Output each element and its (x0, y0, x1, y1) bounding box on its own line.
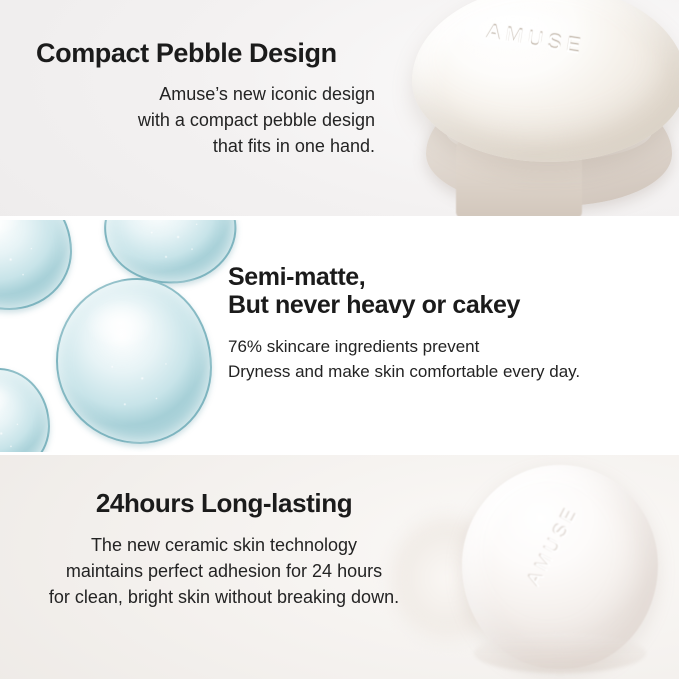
headline-semi-matte: Semi-matte, But never heavy or cakey (228, 263, 668, 319)
product-image-pebble-compact-bottom: AMUSE (454, 465, 672, 677)
section-semi-matte: Semi-matte, But never heavy or cakey 76%… (0, 220, 679, 452)
product-detail-banner: AMUSE Compact Pebble Design Amuse’s new … (0, 0, 679, 679)
amuse-logo-embossed: AMUSE (524, 502, 585, 590)
section-24hours-long-lasting: AMUSE 24hours Long-lasting The new ceram… (0, 455, 679, 679)
copy-block-semi-matte: Semi-matte, But never heavy or cakey 76%… (228, 263, 668, 384)
gel-droplet (56, 278, 212, 444)
section-compact-pebble-design: AMUSE Compact Pebble Design Amuse’s new … (0, 0, 679, 218)
body-24hours-long-lasting: The new ceramic skin technology maintain… (0, 532, 448, 610)
section-divider-top (0, 216, 679, 218)
copy-block-pebble: Compact Pebble Design Amuse’s new iconic… (0, 38, 392, 160)
headline-24hours-long-lasting: 24hours Long-lasting (0, 489, 448, 518)
gel-droplet (0, 368, 50, 452)
gel-droplet (0, 220, 72, 310)
section-divider-bottom (0, 452, 679, 454)
gel-droplet-decoration (0, 220, 235, 452)
body-compact-pebble-design: Amuse’s new iconic design with a compact… (0, 81, 392, 159)
body-semi-matte: 76% skincare ingredients prevent Dryness… (228, 335, 668, 384)
compact-rim (474, 633, 646, 673)
headline-compact-pebble-design: Compact Pebble Design (0, 38, 392, 68)
compact-lid: AMUSE (412, 0, 679, 162)
product-image-pebble-compact-top: AMUSE (412, 0, 679, 218)
copy-block-long-lasting: 24hours Long-lasting The new ceramic ski… (0, 489, 448, 610)
